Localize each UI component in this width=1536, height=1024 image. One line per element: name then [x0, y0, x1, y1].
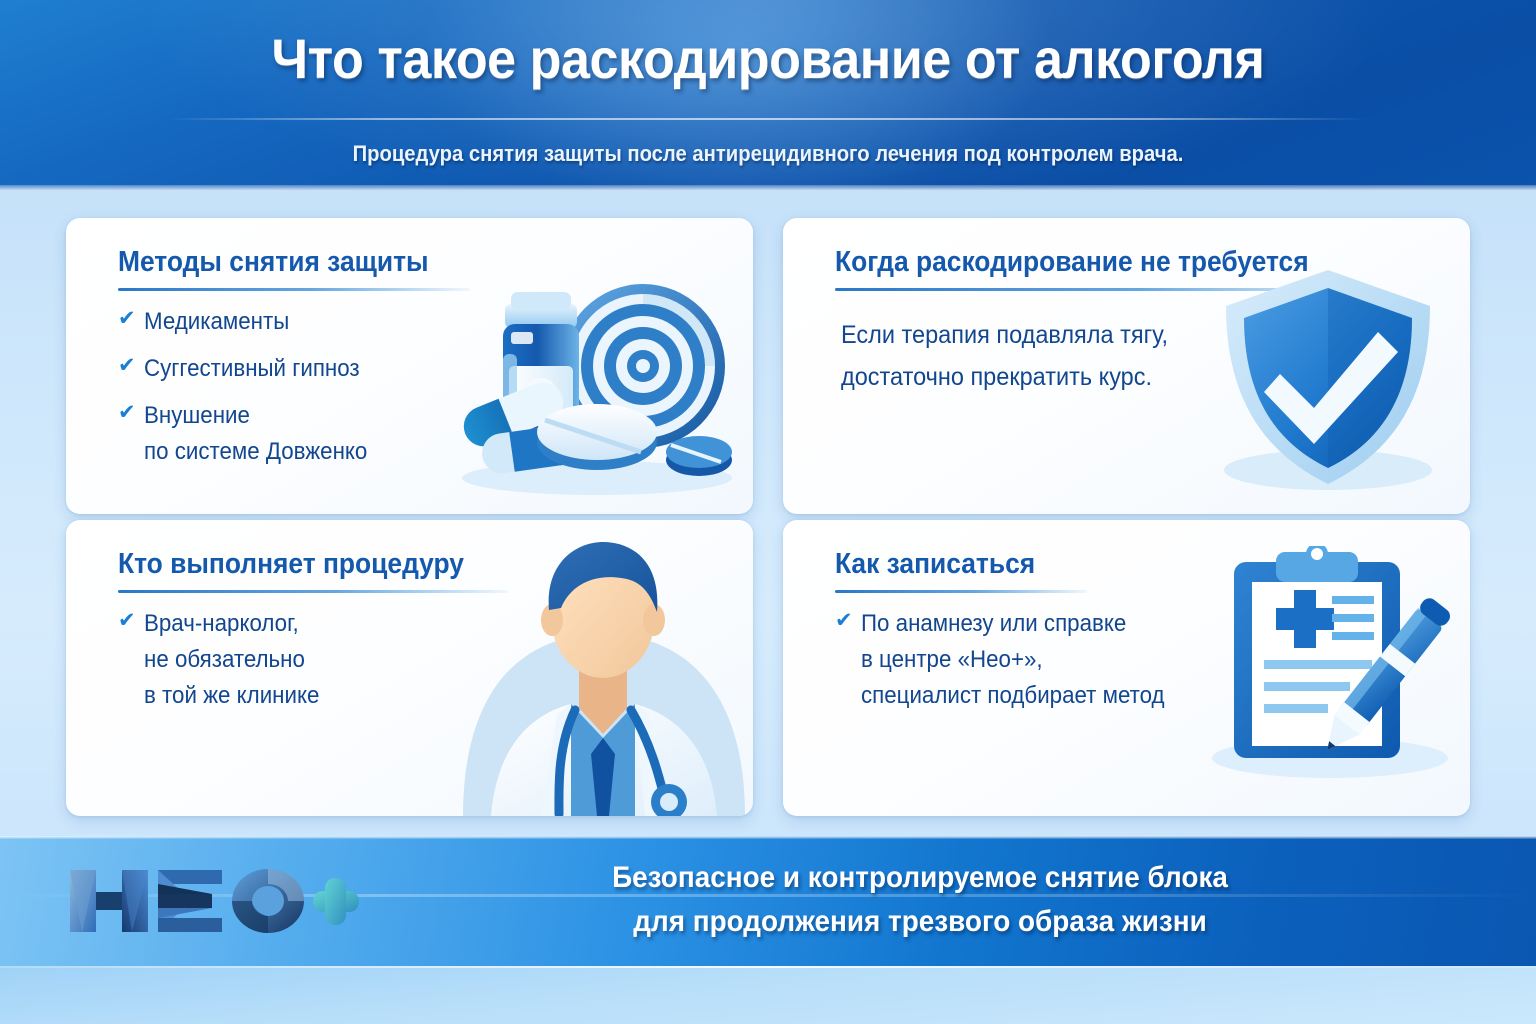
list-item-line: в центре «Нео+», [861, 642, 1165, 678]
page-title: Что такое раскодирование от алкоголя [54, 26, 1482, 91]
footer-tagline: Безопасное и контролируемое снятие блока… [399, 856, 1441, 944]
card-methods-list: ✔ Медикаменты ✔ Суггестивный гипноз ✔ Вн… [118, 304, 384, 481]
card-how-to-book-underline [835, 590, 1087, 593]
card-not-required: Когда раскодирование не требуется Если т… [783, 218, 1470, 514]
list-item-line: Медикаменты [144, 308, 289, 335]
footer-tagline-line2: для продолжения трезвого образа жизни [399, 900, 1441, 944]
list-item-line: в той же клинике [144, 678, 319, 714]
pills-and-spiral-illustration [447, 262, 747, 502]
list-item-line: не обязательно [144, 642, 319, 678]
check-icon: ✔ [118, 304, 144, 334]
logo-plus-icon [313, 878, 359, 925]
logo-letter-o [232, 869, 304, 933]
card-how-to-book: Как записаться ✔ По анамнезу или справке… [783, 520, 1470, 816]
list-item-line: по системе Довженко [144, 434, 367, 470]
list-item-line: специалист подбирает метод [861, 678, 1165, 714]
doctor-illustration [453, 538, 753, 816]
paragraph-line: Если терапия подавляла тягу, [841, 314, 1168, 356]
card-who-performs-list: ✔ Врач-нарколог, не обязательно в той же… [118, 606, 333, 725]
list-item: ✔ Внушение по системе Довженко [118, 398, 384, 470]
neo-plus-logo[interactable] [62, 862, 362, 940]
list-item: ✔ Суггестивный гипноз [118, 351, 384, 387]
page-footer: Безопасное и контролируемое снятие блока… [0, 836, 1536, 966]
list-item-line: Внушение [144, 398, 367, 434]
list-item: ✔ Врач-нарколог, не обязательно в той же… [118, 606, 333, 714]
list-item-line: Врач-нарколог, [144, 606, 319, 642]
check-icon: ✔ [118, 606, 144, 636]
page-header: Что такое раскодирование от алкоголя Про… [0, 0, 1536, 190]
list-item: ✔ Медикаменты [118, 304, 384, 340]
paragraph-line: достаточно прекратить курс. [841, 356, 1168, 398]
bottom-strip [0, 966, 1536, 1024]
card-how-to-book-list: ✔ По анамнезу или справке в центре «Нео+… [835, 606, 1187, 725]
list-item: ✔ По анамнезу или справке в центре «Нео+… [835, 606, 1187, 714]
logo-letter-e [158, 870, 222, 932]
card-methods: Методы снятия защиты ✔ Медикаменты ✔ Суг… [66, 218, 753, 514]
title-divider [168, 118, 1368, 120]
logo-letter-n [70, 870, 148, 932]
clipboard-pen-illustration [1202, 546, 1452, 786]
cards-grid: Методы снятия защиты ✔ Медикаменты ✔ Суг… [66, 218, 1470, 816]
card-who-performs: Кто выполняет процедуру ✔ Врач-нарколог,… [66, 520, 753, 816]
check-icon: ✔ [835, 606, 861, 636]
check-icon: ✔ [118, 351, 144, 381]
list-item-line: Суггестивный гипноз [144, 355, 360, 382]
shield-check-illustration [1208, 256, 1448, 496]
card-who-performs-underline [118, 590, 508, 593]
page-subtitle: Процедура снятия защиты после антирециди… [61, 141, 1474, 167]
card-not-required-paragraph: Если терапия подавляла тягу, достаточно … [841, 314, 1168, 398]
footer-tagline-line1: Безопасное и контролируемое снятие блока [399, 856, 1441, 900]
check-icon: ✔ [118, 398, 144, 428]
card-methods-underline [118, 288, 470, 291]
list-item-line: По анамнезу или справке [861, 606, 1165, 642]
